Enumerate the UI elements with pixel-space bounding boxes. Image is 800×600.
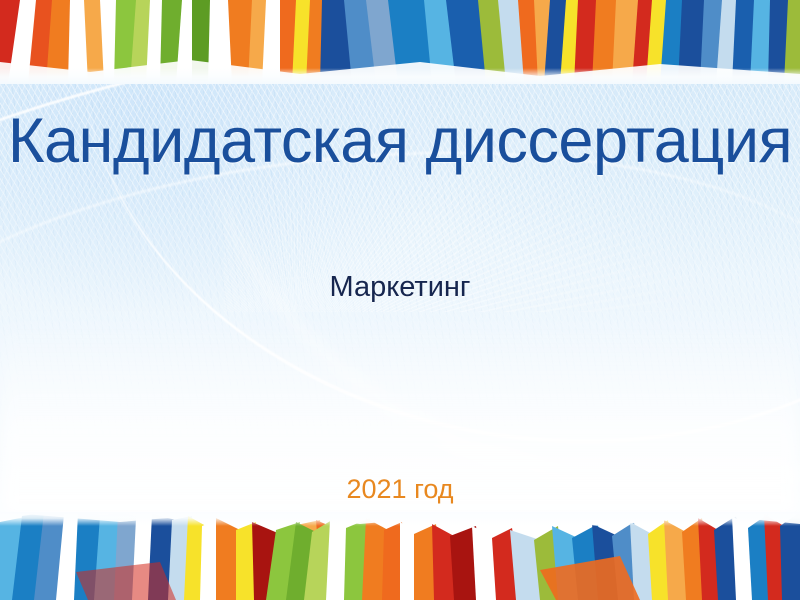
decorative-border-bottom — [0, 512, 800, 600]
decorative-border-top — [0, 0, 800, 84]
slide-subtitle: Маркетинг — [0, 271, 800, 304]
slide-title: Кандидатская диссертация — [0, 108, 800, 174]
slide-year: 2021 год — [0, 474, 800, 505]
geometric-shards-bottom-graphic — [0, 512, 800, 600]
geometric-shards-top-graphic — [0, 0, 800, 84]
presentation-slide: Кандидатская диссертация Маркетинг 2021 … — [0, 0, 800, 600]
